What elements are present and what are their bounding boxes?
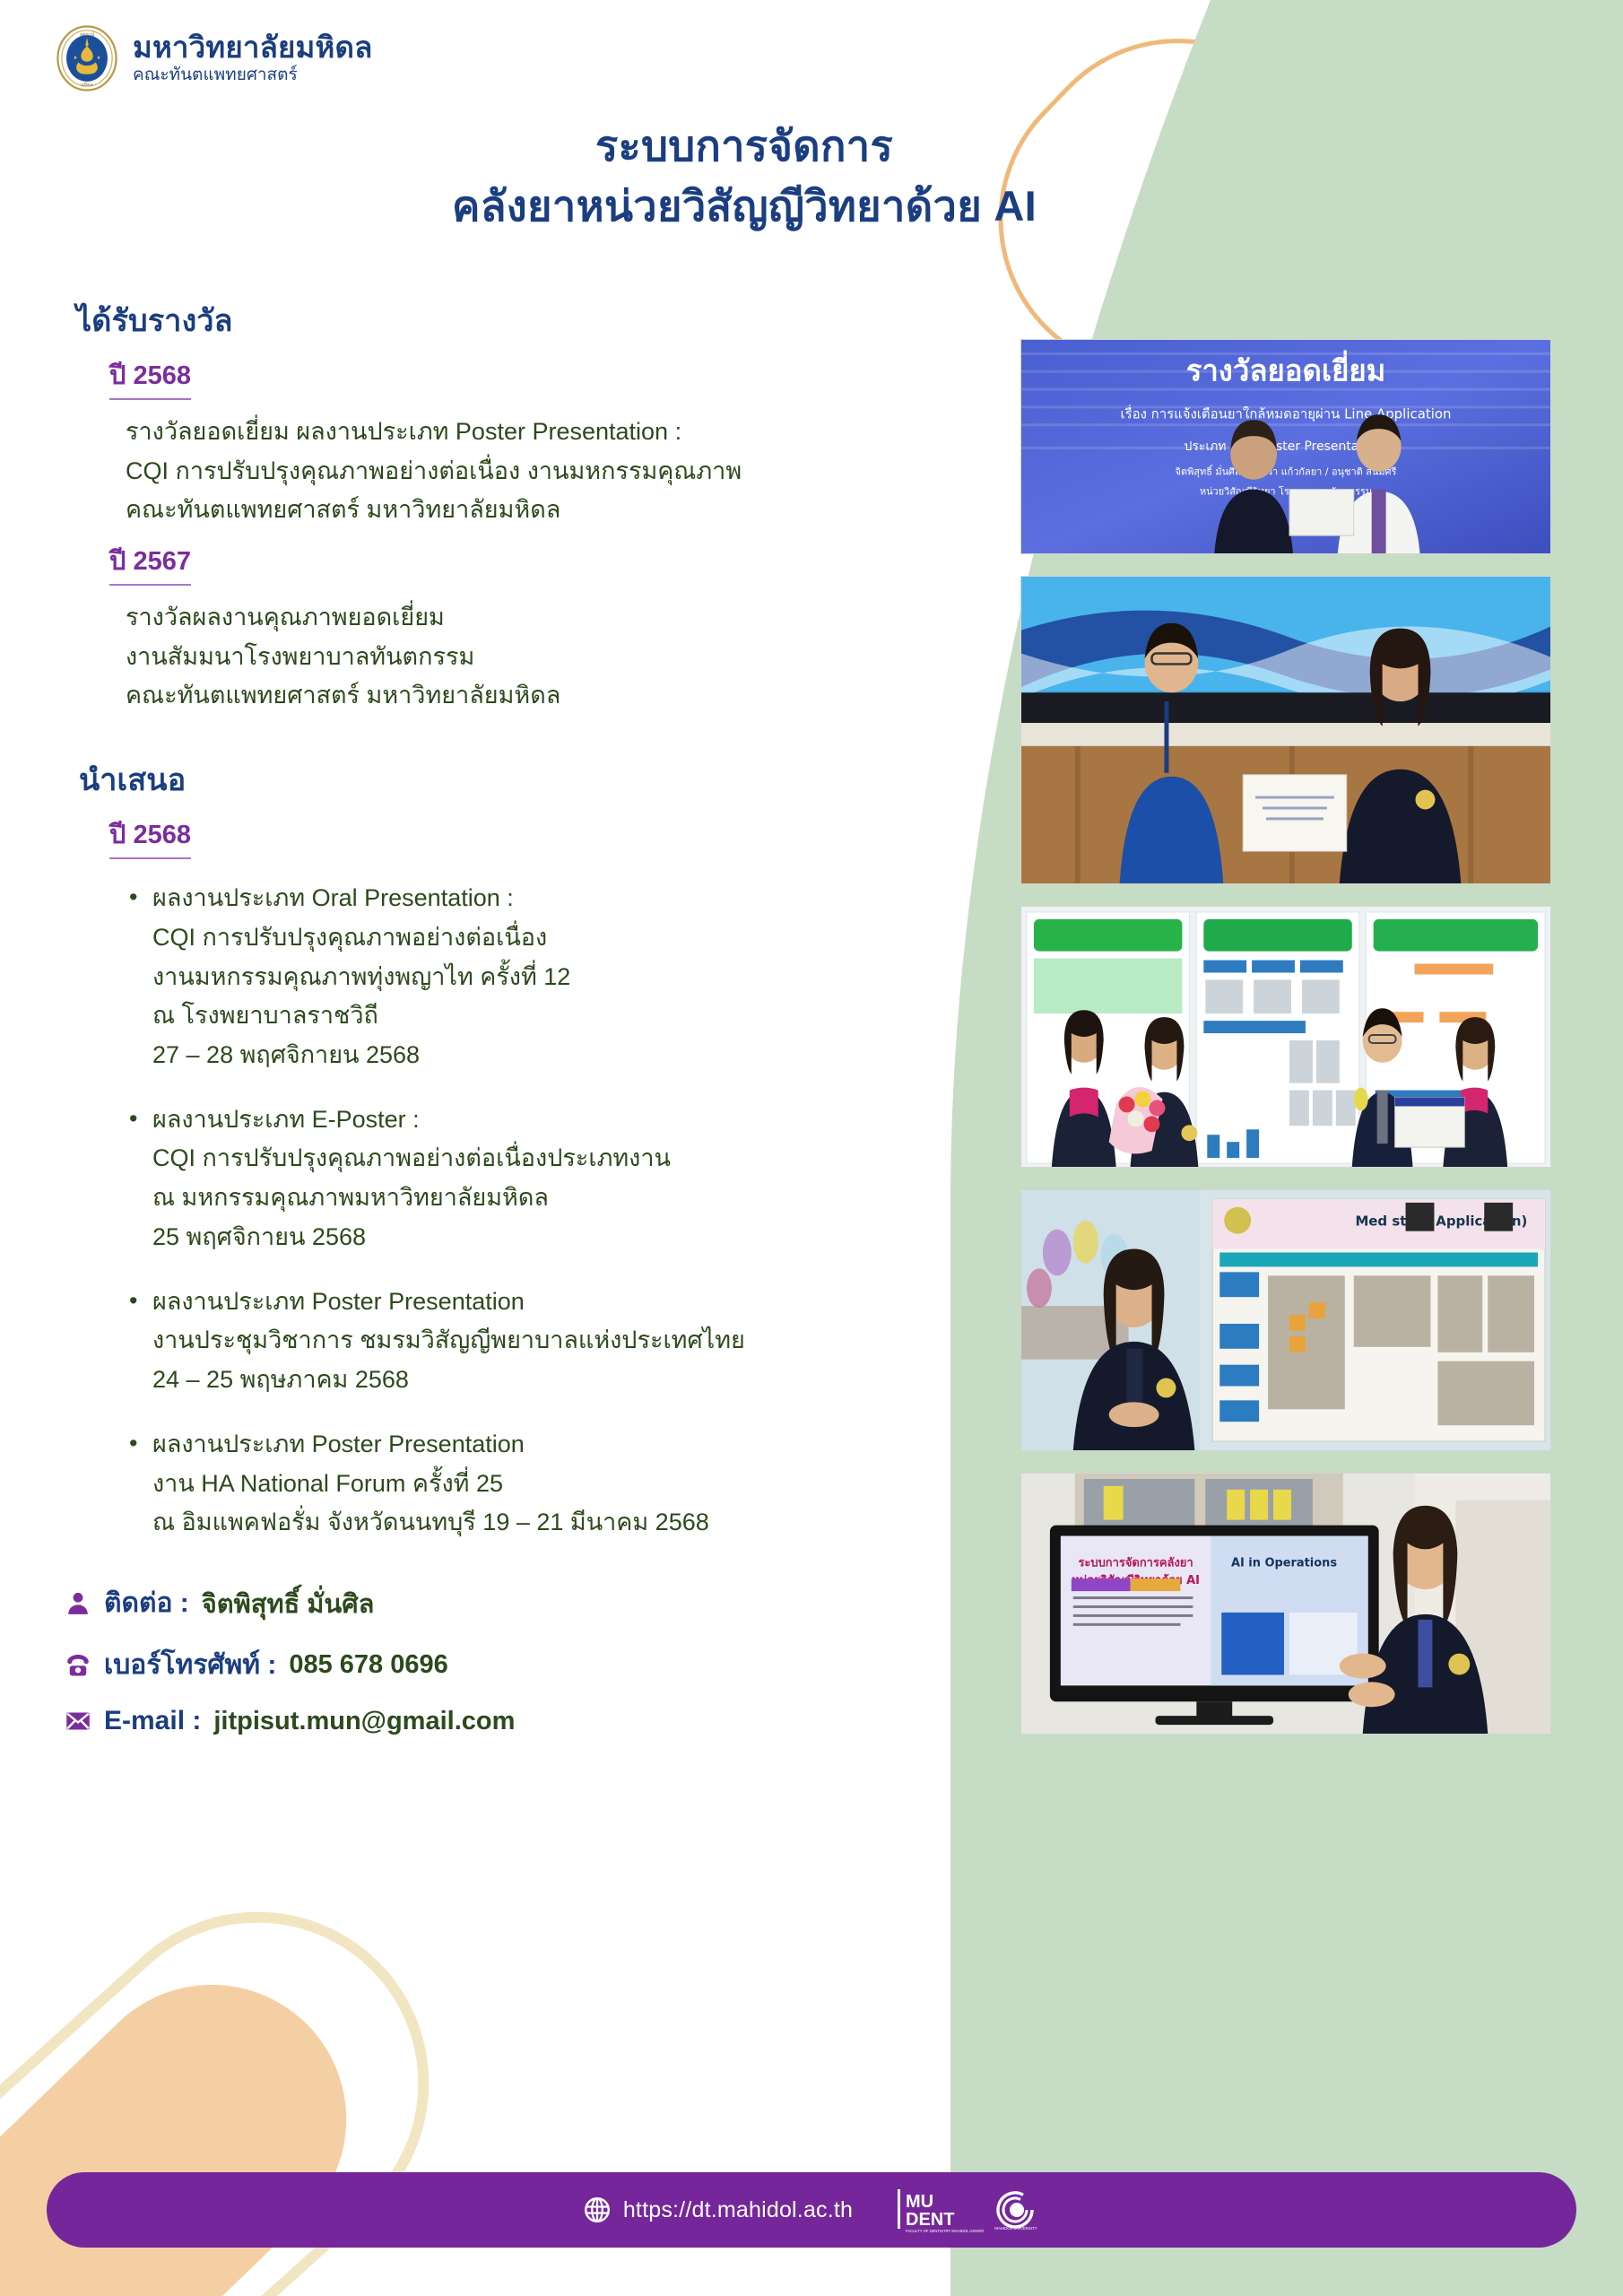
- university-name: มหาวิทยาลัยมหิดล: [133, 32, 373, 63]
- award-detail-line: งานสัมมนาโรงพยาบาลทันตกรรม: [126, 638, 924, 677]
- contact-row-email: E-mail : jitpisut.mun@gmail.com: [65, 1706, 924, 1736]
- award-detail-line: คณะทันตแพทยศาสตร์ มหาวิทยาลัยมหิดล: [126, 491, 924, 530]
- globe-icon: [584, 2196, 611, 2223]
- presentation-line: 27 – 28 พฤศจิกายน 2568: [152, 1036, 924, 1075]
- presentation-line: ผลงานประเภท Oral Presentation :: [152, 879, 924, 918]
- presentation-line: CQI การปรับปรุงคุณภาพอย่างต่อเนื่อง: [152, 918, 924, 958]
- contact-value: จิตพิสุทธิ์ มั่นศิล: [202, 1583, 375, 1624]
- photo-certificate-handover-stage: [1020, 576, 1551, 884]
- footer-url-text: https://dt.mahidol.ac.th: [623, 2197, 853, 2223]
- presentation-line: ผลงานประเภท Poster Presentation: [152, 1425, 924, 1465]
- contact-label: ติดต่อ :: [104, 1582, 189, 1624]
- svg-text:มหิดล: มหิดล: [81, 82, 92, 88]
- presentation-line: ผลงานประเภท E-Poster :: [152, 1100, 924, 1140]
- presentation-line: งานประชุมวิชาการ ชมรมวิสัญญีพยาบาลแห่งปร…: [152, 1321, 924, 1361]
- footer-bar: https://dt.mahidol.ac.th MU DENT FACULTY…: [47, 2172, 1576, 2248]
- contact-value: 085 678 0696: [289, 1650, 447, 1680]
- presentations-section-heading: นำเสนอ: [79, 755, 924, 804]
- award-detail-line: รางวัลผลงานคุณภาพยอดเยี่ยม: [126, 598, 924, 638]
- list-item: ผลงานประเภท Oral Presentation : CQI การป…: [129, 879, 924, 1075]
- title-line-2: คลังยาหน่วยวิสัญญีวิทยาด้วย AI: [296, 177, 1193, 237]
- award-detail-line: คณะทันตแพทยศาสตร์ มหาวิทยาลัยมหิดล: [126, 676, 924, 716]
- presentation-line: ณ มหกรรมคุณภาพมหาวิทยาลัยมหิดล: [152, 1178, 924, 1218]
- contact-label: เบอร์โทรศัพท์ :: [104, 1644, 276, 1686]
- contact-row-phone: เบอร์โทรศัพท์ : 085 678 0696: [65, 1644, 924, 1686]
- svg-text:MAHIDOL UNIVERSITY: MAHIDOL UNIVERSITY: [994, 2226, 1037, 2231]
- title-line-1: ระบบการจัดการ: [595, 122, 893, 170]
- photo-award-ceremony-blue-backdrop: รางวัลยอดเยี่ยม เรื่อง การแจ้งเตือนยาใกล…: [1020, 339, 1551, 554]
- award-detail: รางวัลผลงานคุณภาพยอดเยี่ยม งานสัมมนาโรงพ…: [126, 598, 924, 716]
- presentation-line: 24 – 25 พฤษภาคม 2568: [152, 1361, 924, 1400]
- mudent-logo: MU DENT FACULTY OF DENTISTRY MAHIDOL UNI…: [898, 2186, 1039, 2234]
- presentation-line: ณ โรงพยาบาลราชวิถี: [152, 996, 924, 1036]
- presentation-line: งานมหกรรมคุณภาพทุ่งพญาไท ครั้งที่ 12: [152, 958, 924, 997]
- page-title: ระบบการจัดการ คลังยาหน่วยวิสัญญีวิทยาด้ว…: [296, 117, 1193, 236]
- list-item: ผลงานประเภท Poster Presentation งาน HA N…: [129, 1425, 924, 1543]
- svg-text:รางวัลยอดเยี่ยม: รางวัลยอดเยี่ยม: [1186, 350, 1386, 388]
- photo-presenter-with-monitor: ระบบการจัดการคลังยา หน่วยวิสัญญีวิทยาด้ว…: [1020, 1473, 1551, 1735]
- mahidol-circle-mark-icon: MAHIDOL UNIVERSITY: [993, 2186, 1039, 2234]
- list-item: ผลงานประเภท Poster Presentation งานประชุ…: [129, 1283, 924, 1400]
- award-detail: รางวัลยอดเยี่ยม ผลงานประเภท Poster Prese…: [126, 413, 924, 530]
- svg-text:MU: MU: [906, 2192, 933, 2212]
- mahidol-seal-icon: อตตาน์ มหิดล: [54, 25, 120, 91]
- svg-text:ระบบการจัดการคลังยา: ระบบการจัดการคลังยา: [1078, 1556, 1193, 1570]
- faculty-name: คณะทันตแพทยศาสตร์: [133, 66, 373, 84]
- contact-block: ติดต่อ : จิตพิสุทธิ์ มั่นศิล เบอร์โทรศัพ…: [65, 1582, 924, 1736]
- svg-text:DENT: DENT: [906, 2210, 954, 2230]
- awards-section-heading: ได้รับรางวัล: [76, 296, 924, 344]
- envelope-icon: [65, 1708, 91, 1735]
- presentation-year-label: ปี 2568: [109, 822, 191, 859]
- contact-label: E-mail :: [104, 1706, 201, 1736]
- svg-text:เรื่อง การแจ้งเตือนยาใกล้หมดอา: เรื่อง การแจ้งเตือนยาใกล้หมดอายุผ่าน Lin…: [1121, 404, 1452, 422]
- svg-text:AI in Operations: AI in Operations: [1231, 1556, 1337, 1570]
- mahidol-logo-block: อตตาน์ มหิดล มหาวิทยาลัยมหิดล คณะทันตแพท…: [54, 25, 373, 91]
- left-content-column: ได้รับรางวัล ปี 2568 รางวัลยอดเยี่ยม ผลง…: [0, 296, 950, 1756]
- contact-value: jitpisut.mun@gmail.com: [213, 1707, 515, 1736]
- telephone-icon: [65, 1652, 91, 1679]
- award-detail-line: CQI การปรับปรุงคุณภาพอย่างต่อเนื่อง งานม…: [126, 452, 924, 491]
- photo-column: รางวัลยอดเยี่ยม เรื่อง การแจ้งเตือนยาใกล…: [1020, 339, 1551, 1735]
- svg-text:จิตพิสุทธิ์ มั่นศิล / รุ่งทิวา: จิตพิสุทธิ์ มั่นศิล / รุ่งทิวา แก้วกัลยา…: [1175, 465, 1397, 478]
- person-icon: [65, 1590, 91, 1617]
- svg-text:FACULTY OF DENTISTRY MAHIDOL U: FACULTY OF DENTISTRY MAHIDOL UNIVERSITY: [906, 2229, 984, 2233]
- presentation-line: ณ อิมแพคฟอรั่ม จังหวัดนนทบุรี 19 – 21 มี…: [152, 1503, 924, 1543]
- photo-presenter-beside-poster: Med store Application): [1020, 1189, 1551, 1451]
- svg-text:อตตาน์: อตตาน์: [80, 31, 95, 38]
- award-entry: ปี 2567 รางวัลผลงานคุณภาพยอดเยี่ยม งานสั…: [79, 530, 924, 716]
- presentation-line: ผลงานประเภท Poster Presentation: [152, 1283, 924, 1322]
- award-detail-line: รางวัลยอดเยี่ยม ผลงานประเภท Poster Prese…: [126, 413, 924, 452]
- award-year-label: ปี 2567: [109, 548, 191, 586]
- presentation-line: 25 พฤศจิกายน 2568: [152, 1218, 924, 1257]
- award-year-label: ปี 2568: [109, 362, 191, 400]
- list-item: ผลงานประเภท E-Poster : CQI การปรับปรุงคุ…: [129, 1100, 924, 1257]
- photo-group-with-posters: [1020, 906, 1551, 1168]
- contact-row-person: ติดต่อ : จิตพิสุทธิ์ มั่นศิล: [65, 1582, 924, 1624]
- award-entry: ปี 2568 รางวัลยอดเยี่ยม ผลงานประเภท Post…: [79, 344, 924, 530]
- presentation-list: ผลงานประเภท Oral Presentation : CQI การป…: [129, 879, 924, 1543]
- footer-website-link[interactable]: https://dt.mahidol.ac.th: [584, 2196, 853, 2223]
- mudent-wordmark-icon: MU DENT FACULTY OF DENTISTRY MAHIDOL UNI…: [898, 2186, 984, 2234]
- presentation-line: CQI การปรับปรุงคุณภาพอย่างต่อเนื่องประเภ…: [152, 1139, 924, 1178]
- presentation-line: งาน HA National Forum ครั้งที่ 25: [152, 1465, 924, 1504]
